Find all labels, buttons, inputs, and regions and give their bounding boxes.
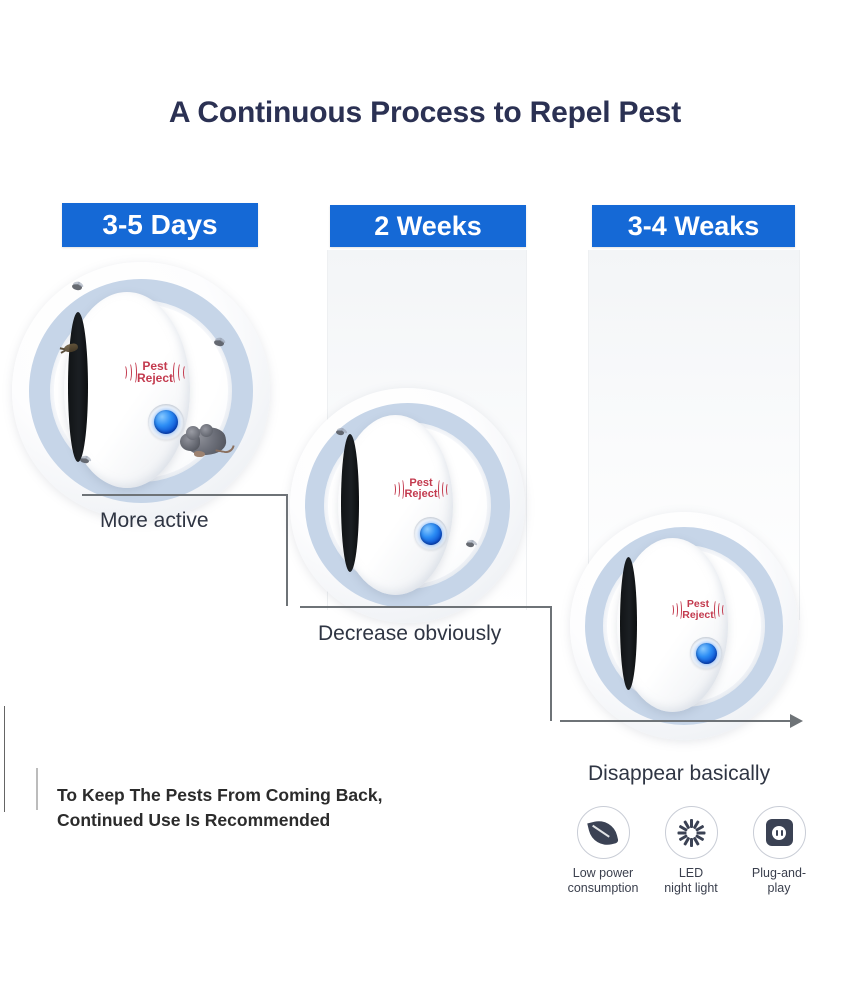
stage-2-caption: Decrease obviously [318, 622, 501, 646]
pest-fly-icon [71, 283, 82, 292]
pest-reject-logo: Pest Reject [107, 355, 203, 389]
device-speaker-slot [68, 312, 88, 462]
logo-line-2: Reject [682, 610, 714, 621]
edge-artifact-line [4, 706, 5, 812]
edge-artifact-line-secondary [36, 768, 38, 810]
stage-1-caption: More active [100, 509, 209, 533]
stage-2-badge: 2 Weeks [330, 205, 526, 247]
connector-stage-2-horizontal [300, 606, 552, 608]
led-indicator [696, 643, 717, 664]
connector-stage-1-horizontal [82, 494, 288, 496]
led-indicator [154, 410, 178, 434]
led-indicator [420, 523, 442, 545]
feature-led-night-light: LED night light [654, 806, 728, 896]
sound-wave-right-icon [438, 479, 450, 500]
sound-wave-left-icon [122, 361, 137, 384]
logo-line-2: Reject [137, 372, 173, 384]
pest-reject-wordmark: Pest Reject [404, 478, 437, 500]
feature-icon-circle [665, 806, 718, 859]
device-speaker-slot [341, 434, 359, 572]
device-speaker-slot [620, 557, 637, 690]
pest-reject-wordmark: Pest Reject [682, 599, 714, 620]
sound-wave-left-icon [670, 600, 682, 620]
pest-mouse-icon [180, 420, 234, 462]
bottom-note-line-1: To Keep The Pests From Coming Back, [57, 783, 382, 808]
power-socket-icon [766, 819, 793, 846]
infographic-page: A Continuous Process to Repel Pest 3-5 D… [0, 0, 850, 995]
bottom-note: To Keep The Pests From Coming Back, Cont… [57, 783, 382, 833]
page-title: A Continuous Process to Repel Pest [0, 96, 850, 130]
device-stage-2: Pest Reject [290, 388, 525, 623]
device-stage-1: Pest Reject [12, 262, 270, 520]
connector-stage-1-vertical [286, 494, 288, 606]
pest-reject-wordmark: Pest Reject [137, 360, 173, 384]
feature-label: Low power consumption [568, 866, 639, 896]
feature-icon-circle [753, 806, 806, 859]
sound-wave-left-icon [392, 479, 404, 500]
feature-low-power: Low power consumption [566, 806, 640, 896]
bottom-note-line-2: Continued Use Is Recommended [57, 808, 382, 833]
logo-line-2: Reject [404, 489, 437, 500]
flow-arrowhead-icon [790, 714, 803, 728]
pest-reject-logo: Pest Reject [654, 594, 742, 625]
connector-stage-3-horizontal [560, 720, 792, 722]
feature-label: LED night light [664, 866, 718, 896]
feature-list: Low power consumption [566, 806, 816, 896]
device-stage-3: Pest Reject [570, 512, 798, 740]
stage-3-caption: Disappear basically [588, 762, 770, 786]
sun-rays-icon [677, 819, 705, 847]
feature-icon-circle [577, 806, 630, 859]
connector-stage-2-vertical [550, 606, 552, 721]
feature-plug-and-play: Plug-and-play [742, 806, 816, 896]
leaf-icon [587, 817, 619, 849]
stage-1-badge: 3-5 Days [62, 203, 258, 247]
sound-wave-right-icon [714, 600, 726, 620]
pest-reject-logo: Pest Reject [376, 473, 466, 505]
feature-label: Plug-and-play [742, 866, 816, 896]
sound-wave-right-icon [173, 361, 188, 384]
stage-3-badge: 3-4 Weaks [592, 205, 795, 247]
logo-line-1: Pest [687, 599, 709, 610]
